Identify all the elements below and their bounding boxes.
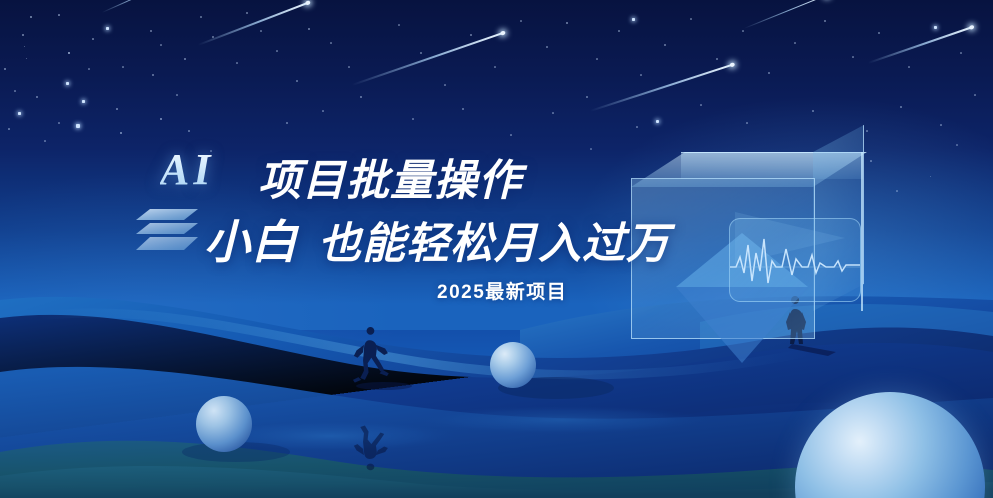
stacked-layers-icon <box>134 207 200 255</box>
ai-title: AI <box>160 144 214 195</box>
small-sphere <box>196 396 252 452</box>
cube-right-edge <box>861 152 863 311</box>
ai-promo-banner: AI 项目批量操作 小白 也能轻松月入过万 2025最新项目 <box>0 0 993 498</box>
headline-line-2-bold: 小白 <box>204 206 298 272</box>
subtitle: 2025最新项目 <box>437 277 567 304</box>
headline-line-2-rest: 也能轻松月入过万 <box>318 209 670 271</box>
headline-line-1: 项目批量操作 <box>258 146 522 208</box>
waveform-panel-icon <box>729 218 861 302</box>
mid-sphere <box>490 342 536 388</box>
